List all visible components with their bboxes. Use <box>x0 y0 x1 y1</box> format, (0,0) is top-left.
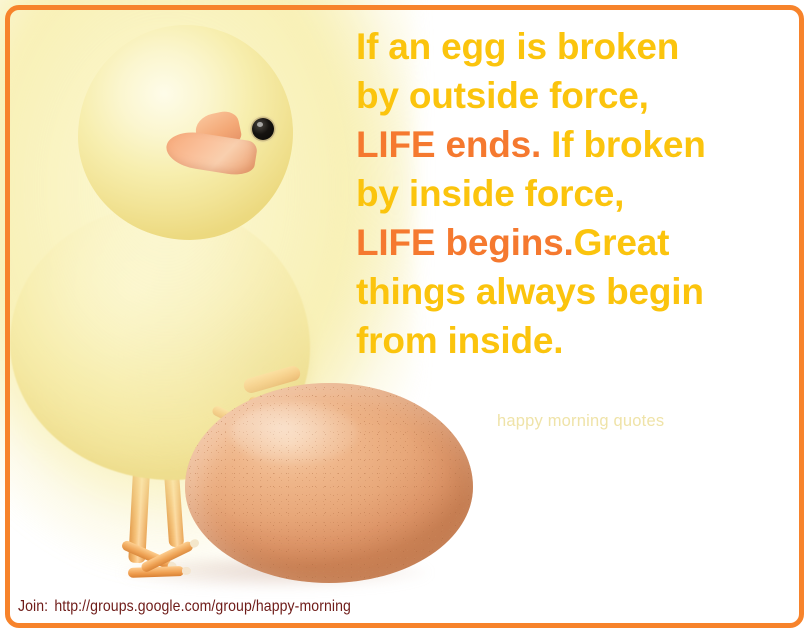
quote-highlight-life-begins: LIFE begins. <box>356 222 574 263</box>
brown-egg-graphic <box>185 383 473 583</box>
chick-eye <box>248 115 278 143</box>
quote-line-4: by inside force, <box>356 169 796 218</box>
quote-line-5: LIFE begins.Great <box>356 218 796 267</box>
quote-line-2-text: by outside force, <box>356 75 649 116</box>
quote-line-1-text: If an egg is broken <box>356 26 679 67</box>
quote-line-4-text: by inside force, <box>356 173 624 214</box>
watermark-label: happy morning quotes <box>497 412 664 431</box>
quote-text: If an egg is broken by outside force, LI… <box>356 22 796 365</box>
quote-line-6: things always begin <box>356 267 796 316</box>
quote-line-3-text: If broken <box>541 124 706 165</box>
quote-line-1: If an egg is broken <box>356 22 796 71</box>
quote-line-2: by outside force, <box>356 71 796 120</box>
quote-line-7: from inside. <box>356 316 796 365</box>
footer-join-label: Join: <box>18 598 48 615</box>
quote-line-5-text: Great <box>574 222 670 263</box>
egg-highlight <box>231 403 358 463</box>
footer-url[interactable]: http://groups.google.com/group/happy-mor… <box>54 598 351 615</box>
quote-poster: If an egg is broken by outside force, LI… <box>0 0 809 633</box>
chick-head <box>78 25 293 240</box>
quote-highlight-life-ends: LIFE ends. <box>356 124 541 165</box>
quote-line-6-text: things always begin <box>356 271 704 312</box>
quote-line-3: LIFE ends. If broken <box>356 120 796 169</box>
chick-pupil <box>252 118 274 140</box>
footer-join-link[interactable]: Join:http://groups.google.com/group/happ… <box>18 598 351 616</box>
chick-beak-icon <box>164 128 259 178</box>
quote-line-7-text: from inside. <box>356 320 563 361</box>
